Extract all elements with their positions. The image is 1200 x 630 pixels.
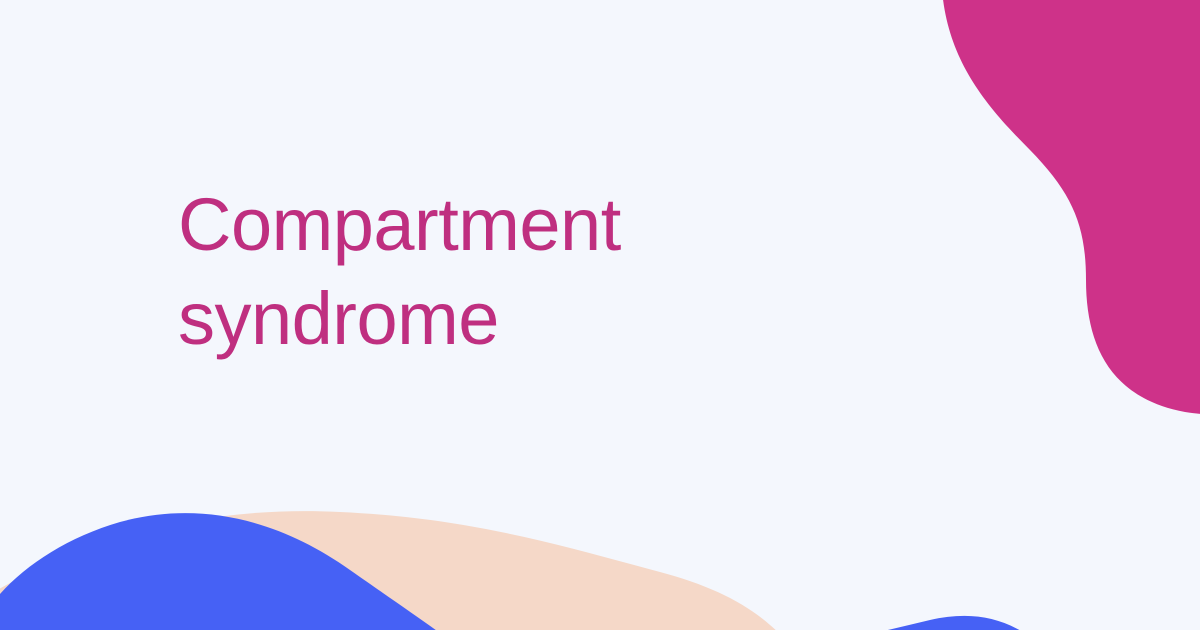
title-block: Compartment syndrome bbox=[178, 178, 878, 366]
blue-wave-blob-left-group bbox=[0, 513, 460, 630]
blue-wave-blob-right bbox=[770, 616, 1045, 630]
blue-wave-blob-right-group bbox=[770, 616, 1045, 630]
peach-wave-blob-group bbox=[0, 511, 790, 630]
pink-wave-blob bbox=[942, 0, 1200, 415]
peach-wave-blob bbox=[0, 511, 790, 630]
page-title: Compartment syndrome bbox=[178, 178, 878, 366]
pink-wave-blob-group bbox=[942, 0, 1200, 415]
social-share-card: Compartment syndrome bbox=[0, 0, 1200, 630]
blue-wave-blob-left bbox=[0, 513, 460, 630]
